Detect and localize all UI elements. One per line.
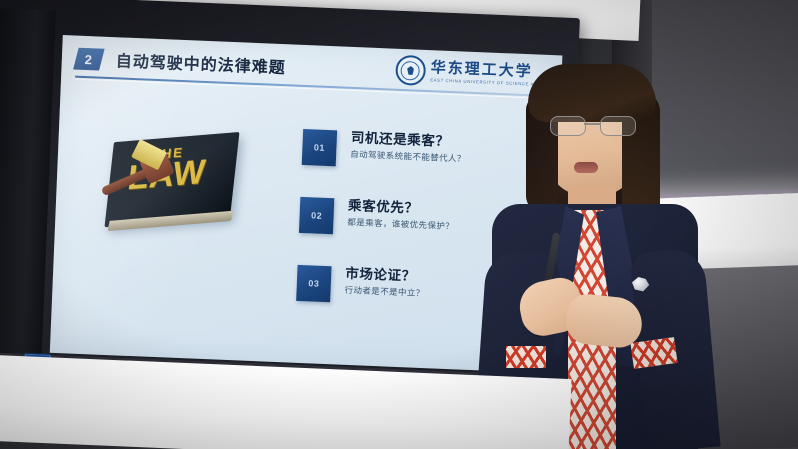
bullet-title: 司机还是乘客？ [351,126,450,150]
lecture-scene: 2 自动驾驶中的法律难题 华东理工大学 EAST CHINA UNIVERSIT… [0,0,798,449]
cuff-left [506,346,546,368]
lens-right [600,116,636,136]
section-number-badge: 2 [73,48,105,71]
university-seal-icon [395,55,426,86]
bullet-number: 01 [314,142,325,152]
hair-front [528,64,656,122]
bullet-title: 市场论证？ [345,262,416,285]
bullet-number: 02 [311,210,322,220]
bullet-number-box: 03 [296,265,331,302]
bullet-subtitle: 自动驾驶系统能不能替代人？ [350,148,466,165]
bullet-subtitle: 都是乘客，谁被优先保护？ [347,216,454,232]
bullet-number: 03 [308,278,319,288]
bullet-title: 乘客优先？ [348,194,419,217]
section-number-text: 2 [85,51,93,66]
bullet-number-box: 02 [299,197,334,234]
glasses-icon [550,116,636,136]
glasses-bridge [584,123,600,125]
law-book-illustration: THE LAW [77,116,273,274]
lens-left [550,116,586,136]
bullet-number-box: 01 [302,129,337,166]
mouth [574,162,598,173]
bullet-subtitle: 行动者是不是中立？ [344,284,425,299]
slide-title: 自动驾驶中的法律难题 [115,47,286,78]
